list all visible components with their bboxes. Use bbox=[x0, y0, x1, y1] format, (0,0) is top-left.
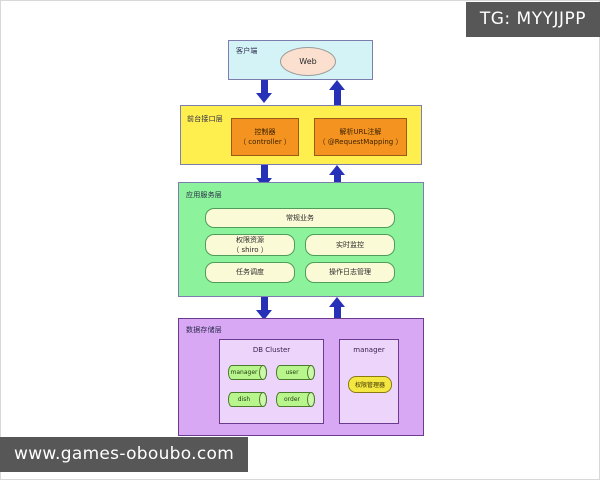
layer-storage: 数据存储层 DB Cluster manager user dish order… bbox=[178, 318, 424, 436]
node-db-order-label: order bbox=[277, 393, 307, 406]
node-db-user-label: user bbox=[277, 366, 307, 379]
layer-interface: 前台接口层 控制器 （ controller ） 解析URL注解 （ @Requ… bbox=[180, 105, 422, 165]
node-db-user: user bbox=[276, 365, 315, 380]
node-requestmapping-line1: 解析URL注解 bbox=[340, 127, 382, 137]
node-web: Web bbox=[280, 47, 336, 76]
group-manager-title: manager bbox=[340, 346, 398, 354]
node-realtime-monitor: 实时监控 bbox=[305, 234, 395, 256]
node-controller-line1: 控制器 bbox=[255, 127, 276, 137]
node-db-order: order bbox=[276, 392, 315, 407]
layer-interface-label: 前台接口层 bbox=[187, 114, 223, 124]
node-operation-log: 操作日志管理 bbox=[305, 262, 395, 283]
node-db-dish: dish bbox=[228, 392, 267, 407]
node-requestmapping: 解析URL注解 （ @RequestMapping ） bbox=[314, 118, 407, 156]
node-requestmapping-line2: （ @RequestMapping ） bbox=[319, 137, 403, 147]
watermark-tg: TG: MYYJJPP bbox=[466, 2, 600, 37]
node-task-schedule-line1: 任务调度 bbox=[236, 267, 264, 277]
node-realtime-monitor-line1: 实时监控 bbox=[336, 240, 364, 250]
group-db-cluster-title: DB Cluster bbox=[220, 346, 323, 354]
node-web-label: Web bbox=[299, 57, 316, 66]
watermark-site: www.games-oboubo.com bbox=[0, 437, 248, 472]
layer-client-label: 客户端 bbox=[236, 46, 258, 56]
node-permission-resource-line2: （ shiro ） bbox=[232, 245, 268, 255]
architecture-diagram: 客户端 Web 前台接口层 控制器 （ controller ） 解析URL注解… bbox=[0, 0, 600, 480]
node-permission-manager: 权限管理器 bbox=[348, 376, 392, 393]
node-general-business: 常规业务 bbox=[205, 208, 395, 228]
node-db-manager: manager bbox=[228, 365, 267, 380]
group-manager: manager 权限管理器 bbox=[339, 339, 399, 424]
node-operation-log-line1: 操作日志管理 bbox=[329, 267, 371, 277]
layer-service: 应用服务层 常规业务 权限资源 （ shiro ） 实时监控 任务调度 操作日志… bbox=[178, 182, 424, 297]
layer-service-label: 应用服务层 bbox=[186, 190, 222, 200]
node-permission-resource-line1: 权限资源 bbox=[236, 235, 264, 245]
node-controller-line2: （ controller ） bbox=[239, 137, 291, 147]
layer-client: 客户端 Web bbox=[228, 40, 373, 80]
node-db-dish-label: dish bbox=[229, 393, 259, 406]
layer-storage-label: 数据存储层 bbox=[186, 325, 222, 335]
node-permission-manager-label: 权限管理器 bbox=[355, 380, 385, 389]
group-db-cluster: DB Cluster manager user dish order bbox=[219, 339, 324, 424]
node-general-business-line1: 常规业务 bbox=[286, 213, 314, 223]
node-db-manager-label: manager bbox=[229, 366, 259, 379]
node-controller: 控制器 （ controller ） bbox=[231, 118, 299, 156]
node-permission-resource: 权限资源 （ shiro ） bbox=[205, 234, 295, 256]
node-task-schedule: 任务调度 bbox=[205, 262, 295, 283]
